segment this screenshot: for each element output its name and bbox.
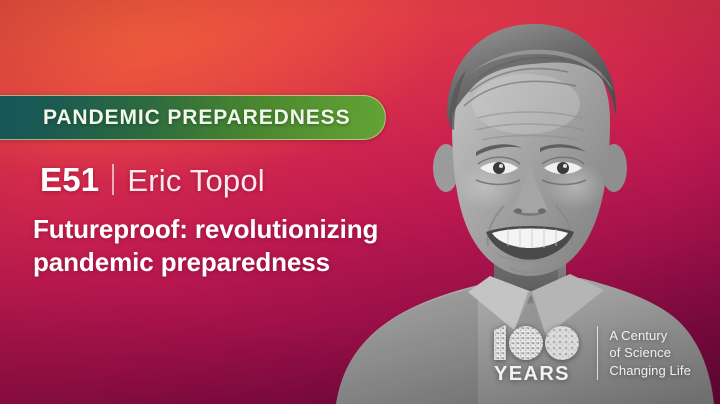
category-badge-label: PANDEMIC PREPAREDNESS — [43, 106, 351, 130]
episode-divider — [112, 164, 114, 195]
hundred-years-logo: YEARS A Century of Science Changing Life — [492, 322, 691, 384]
guest-name: Eric Topol — [127, 163, 265, 199]
episode-title: Futureproof: revolutionizing pandemic pr… — [33, 213, 453, 280]
episode-line: E51 Eric Topol — [40, 160, 265, 199]
video-thumbnail: PANDEMIC PREPAREDNESS E51 Eric Topol Fut… — [0, 0, 720, 404]
logo-divider — [597, 326, 598, 380]
logo-tagline-line-3: Changing Life — [609, 362, 691, 379]
logo-tagline-line-1: A Century — [609, 327, 691, 344]
episode-title-line-1: Futureproof: revolutionizing — [33, 213, 453, 246]
hundred-years-mark-icon: YEARS — [492, 322, 588, 384]
logo-tagline-line-2: of Science — [609, 344, 691, 361]
episode-number: E51 — [40, 161, 99, 199]
episode-title-line-2: pandemic preparedness — [33, 246, 453, 279]
logo-tagline: A Century of Science Changing Life — [609, 327, 691, 378]
svg-text:YEARS: YEARS — [494, 363, 570, 384]
category-badge: PANDEMIC PREPAREDNESS — [0, 95, 386, 140]
